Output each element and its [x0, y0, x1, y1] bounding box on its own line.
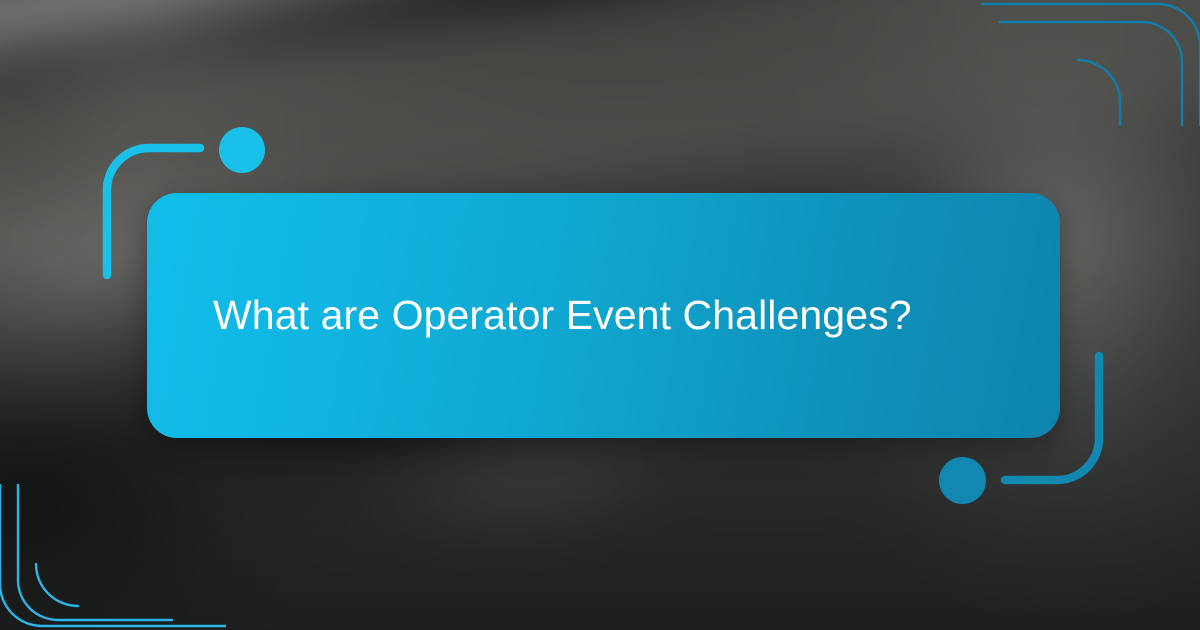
page-title: What are Operator Event Challenges? — [213, 291, 912, 339]
accent-dot-top — [219, 127, 265, 173]
headline-card: What are Operator Event Challenges? — [147, 193, 1060, 438]
accent-dot-bottom — [939, 457, 986, 504]
banner-canvas: What are Operator Event Challenges? — [0, 0, 1200, 630]
